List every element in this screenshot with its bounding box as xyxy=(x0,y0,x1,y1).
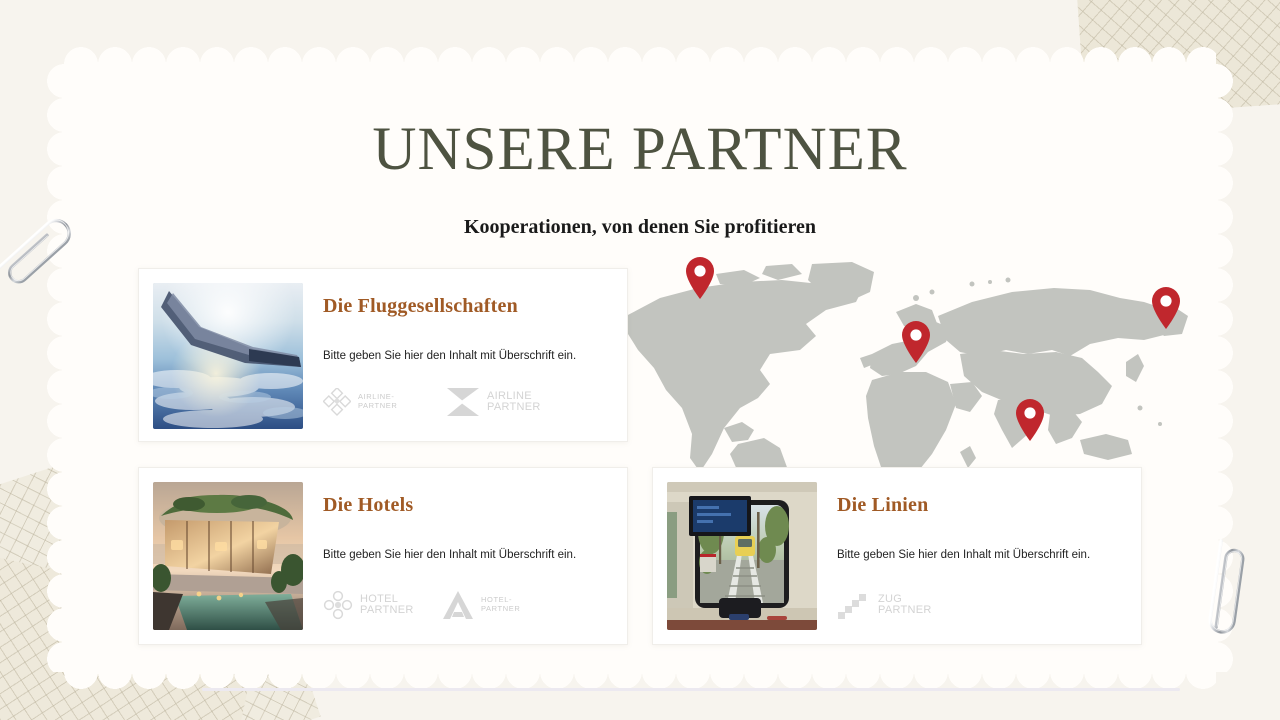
map-pin-south-asia[interactable] xyxy=(1014,398,1046,442)
diamond-cluster-logo-mark xyxy=(323,388,351,416)
card-title-lines: Die Linien xyxy=(837,494,1125,517)
world-map-graphic xyxy=(620,258,1190,490)
circle-cluster-logo-mark xyxy=(323,590,353,620)
partner-logo-hotel-1[interactable]: HOTEL PARTNER xyxy=(323,590,416,620)
map-pin-europe[interactable] xyxy=(900,320,932,364)
card-body-hotels: Bitte geben Sie hier den Inhalt mit Über… xyxy=(323,549,611,561)
airplane-wing-above-clouds-photo xyxy=(153,283,303,429)
modern-resort-villa-at-sunset-photo xyxy=(153,482,303,630)
partner-logo-zug-1-label: ZUG PARTNER xyxy=(878,594,934,616)
partner-logo-airline-2-label: AIRLINE PARTNER xyxy=(487,391,543,413)
partner-card-airlines[interactable]: Die Fluggesellschaften Bitte geben Sie h… xyxy=(138,268,628,442)
partner-logo-airline-1-label: AIRLINE-PARTNER xyxy=(358,393,420,410)
card-body-lines: Bitte geben Sie hier den Inhalt mit Über… xyxy=(837,549,1125,561)
tram-cabin-view-of-tracks-photo xyxy=(667,482,817,630)
partner-card-lines[interactable]: Die Linien Bitte geben Sie hier den Inha… xyxy=(652,467,1142,645)
partner-logo-row-lines: ZUG PARTNER xyxy=(837,590,934,620)
card-title-airlines: Die Fluggesellschaften xyxy=(323,295,611,318)
map-pin-far-east[interactable] xyxy=(1150,286,1182,330)
card-title-hotels: Die Hotels xyxy=(323,494,611,517)
paperclip-right xyxy=(1190,531,1260,654)
partner-logo-airline-1[interactable]: AIRLINE-PARTNER xyxy=(323,388,420,416)
partner-logo-hotel-1-label: HOTEL PARTNER xyxy=(360,594,416,616)
partner-logo-row-hotels: HOTEL PARTNER HOTEL-PARTNER xyxy=(323,590,543,620)
card-body-airlines: Bitte geben Sie hier den Inhalt mit Über… xyxy=(323,350,611,362)
partner-logo-hotel-2[interactable]: HOTEL-PARTNER xyxy=(442,590,543,620)
arrow-wedge-logo-mark xyxy=(446,387,480,417)
page-subtitle: Kooperationen, von denen Sie profitieren xyxy=(0,216,1280,239)
map-pin-north-america[interactable] xyxy=(684,256,716,300)
page-title: UNSERE PARTNER xyxy=(0,118,1280,182)
partner-logo-airline-2[interactable]: AIRLINE PARTNER xyxy=(446,387,543,417)
bottom-divider-rule xyxy=(202,688,1180,691)
triangle-logo-mark xyxy=(442,590,474,620)
partner-logo-hotel-2-label: HOTEL-PARTNER xyxy=(481,596,543,613)
partner-logo-row-airlines: AIRLINE-PARTNER AIRLINE PARTNER xyxy=(323,387,543,417)
partner-card-hotels[interactable]: Die Hotels Bitte geben Sie hier den Inha… xyxy=(138,467,628,645)
stair-squares-logo-mark xyxy=(837,590,871,620)
partner-logo-zug-1[interactable]: ZUG PARTNER xyxy=(837,590,934,620)
slide-canvas: UNSERE PARTNER Kooperationen, von denen … xyxy=(0,0,1280,720)
paperclip-left xyxy=(0,195,98,308)
